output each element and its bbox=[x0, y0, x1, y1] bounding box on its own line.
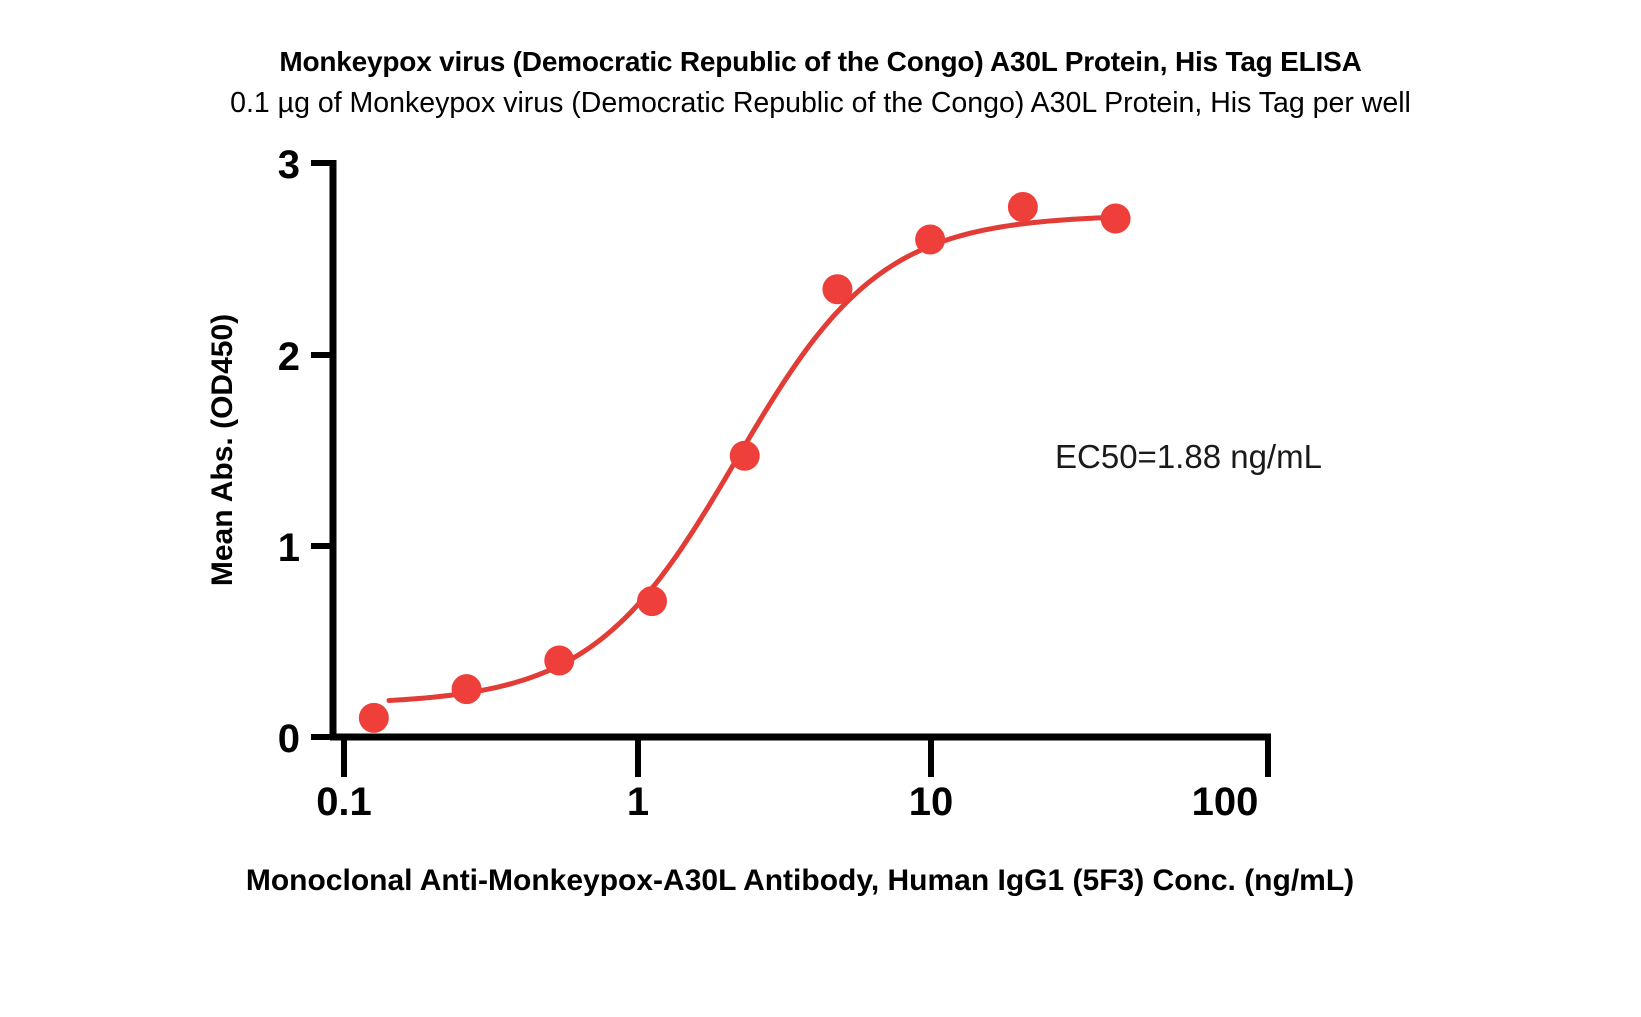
ec50-annotation: EC50=1.88 ng/mL bbox=[1055, 438, 1322, 475]
x-tick-label-10: 10 bbox=[909, 780, 954, 824]
x-tick-group bbox=[344, 737, 1268, 777]
x-tick-label-1: 1 bbox=[627, 780, 649, 824]
elisa-chart-figure: Monkeypox virus (Democratic Republic of … bbox=[0, 0, 1641, 1017]
x-axis-title: Monoclonal Anti-Monkeypox-A30L Antibody,… bbox=[246, 864, 1354, 897]
plot-area: 3 2 1 0 0.1 1 10 100 Mean Abs. (OD450) M… bbox=[0, 0, 1641, 1017]
data-point bbox=[544, 645, 574, 675]
y-tick-label-1: 1 bbox=[278, 526, 300, 570]
data-point bbox=[452, 674, 482, 704]
data-point-group bbox=[359, 192, 1131, 733]
data-point bbox=[1101, 203, 1131, 233]
x-tick-label-0.1: 0.1 bbox=[316, 780, 372, 824]
data-point bbox=[359, 703, 389, 733]
data-point bbox=[637, 586, 667, 616]
x-tick-label-100: 100 bbox=[1192, 780, 1259, 824]
y-tick-label-3: 3 bbox=[278, 143, 300, 187]
data-point bbox=[730, 441, 760, 471]
data-point bbox=[915, 225, 945, 255]
data-point bbox=[1008, 192, 1038, 222]
data-point bbox=[822, 274, 852, 304]
y-tick-label-0: 0 bbox=[278, 717, 300, 761]
y-axis-title: Mean Abs. (OD450) bbox=[206, 314, 239, 586]
y-tick-label-2: 2 bbox=[278, 335, 300, 379]
